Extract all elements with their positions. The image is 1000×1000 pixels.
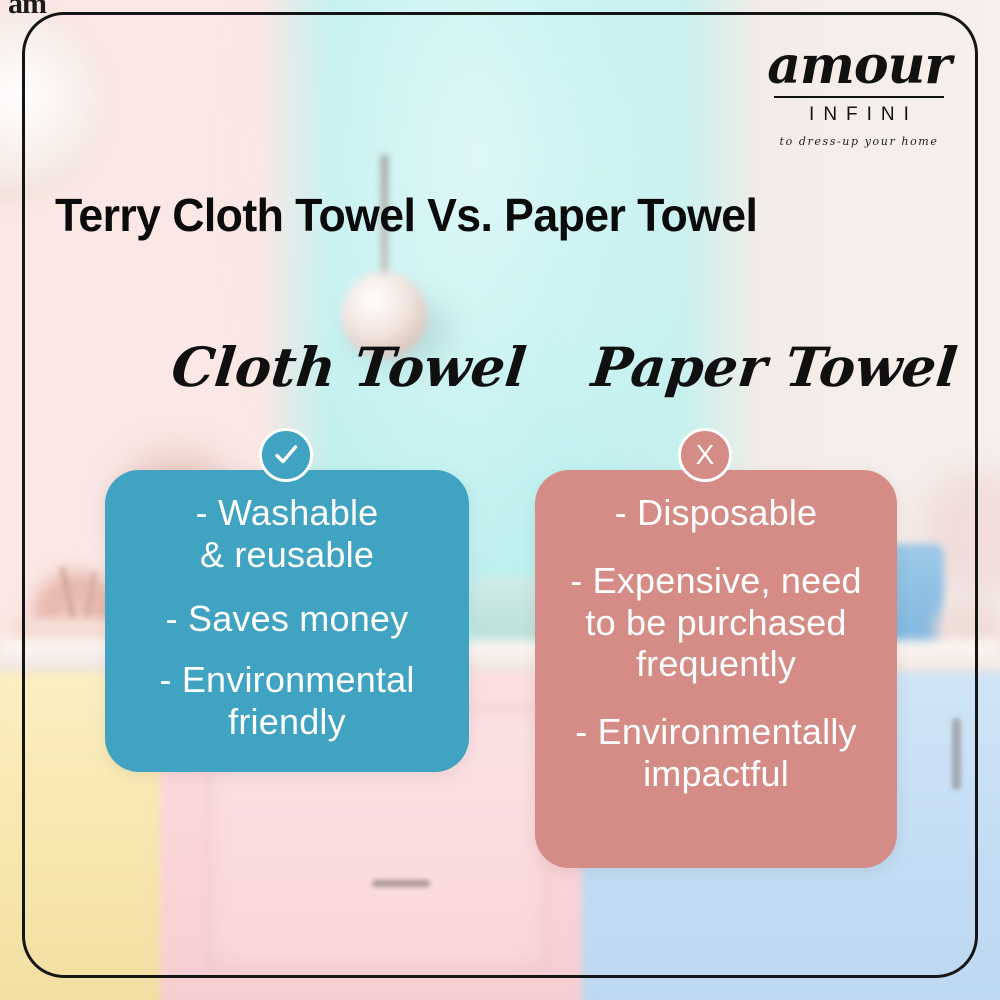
cross-icon-label: X [696, 441, 715, 469]
column-heading-paper: Paper Towel [589, 335, 961, 399]
infographic-canvas: am amour INFINI to dress-up your home Te… [0, 0, 1000, 1000]
brand-tagline: to dress-up your home [754, 135, 964, 148]
cloth-towel-card: - Washable & reusable - Saves money - En… [105, 470, 469, 772]
background-cabinet-handle [372, 880, 430, 887]
list-item: - Disposable [553, 492, 879, 534]
list-item: - Washable & reusable [123, 492, 451, 576]
list-item: - Saves money [123, 598, 451, 640]
brand-subname: INFINI [754, 104, 964, 126]
list-item: - Environmentally impactful [553, 711, 879, 795]
brand-name: amour [754, 40, 964, 92]
cross-icon: X [678, 428, 732, 482]
page-title: Terry Cloth Towel Vs. Paper Towel [55, 188, 757, 242]
paper-towel-card: - Disposable - Expensive, need to be pur… [535, 470, 897, 868]
column-heading-cloth: Cloth Towel [169, 335, 530, 399]
logo-divider [774, 96, 944, 98]
top-cropped-text-fragment: am [8, 0, 46, 21]
background-cabinet-blue-handle [952, 718, 961, 790]
list-item: - Expensive, need to be purchased freque… [553, 560, 879, 685]
list-item: - Environmental friendly [123, 659, 451, 743]
check-icon [259, 428, 313, 482]
brand-logo: amour INFINI to dress-up your home [754, 40, 964, 148]
